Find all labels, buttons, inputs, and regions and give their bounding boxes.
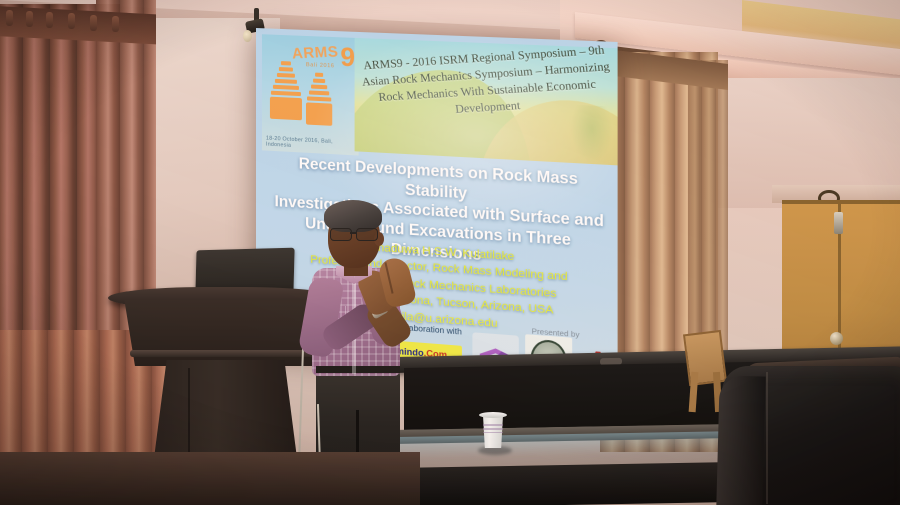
eyeglasses-icon (330, 228, 380, 239)
floor (0, 452, 420, 505)
paper-cup-pattern (483, 424, 503, 433)
wooden-chair-back[interactable] (683, 330, 727, 386)
door-bolt-icon[interactable] (834, 212, 843, 234)
arms9-subtitle: Bali 2016 (306, 62, 335, 69)
armchair-armrest (716, 375, 765, 505)
arms9-wordmark: ARMS (291, 43, 339, 62)
arms9-logo: ARMS 9 Bali 2016 18-20 October 2016, Bal… (262, 34, 359, 155)
lectern-lip (130, 350, 318, 357)
pagoda-icon-left (270, 61, 302, 121)
curtain-pleat-hook (68, 13, 75, 29)
spotlight-bulb-icon (243, 30, 252, 42)
conference-photo-scene: ARMS 9 Bali 2016 18-20 October 2016, Bal… (0, 0, 900, 505)
arms9-number: 9 (340, 41, 355, 73)
pagoda-icon-right (306, 72, 332, 126)
armchair-seam (766, 372, 768, 504)
door-knob-icon[interactable] (830, 332, 843, 345)
curtain-pleat-hook (46, 12, 53, 28)
lens-right (356, 228, 378, 241)
curtain-pleat-hook (112, 16, 119, 32)
lens-left (330, 228, 352, 241)
arms9-date-line: 18-20 October 2016, Bali, Indonesia (266, 136, 359, 153)
curtain-pleat-hook (6, 10, 13, 26)
paper-cup-rim (479, 412, 507, 418)
presenter-belt (316, 366, 400, 373)
curtain-pleat-hook (26, 11, 33, 27)
tree-shape (570, 105, 613, 166)
curtain-pleat-hook (90, 15, 97, 31)
